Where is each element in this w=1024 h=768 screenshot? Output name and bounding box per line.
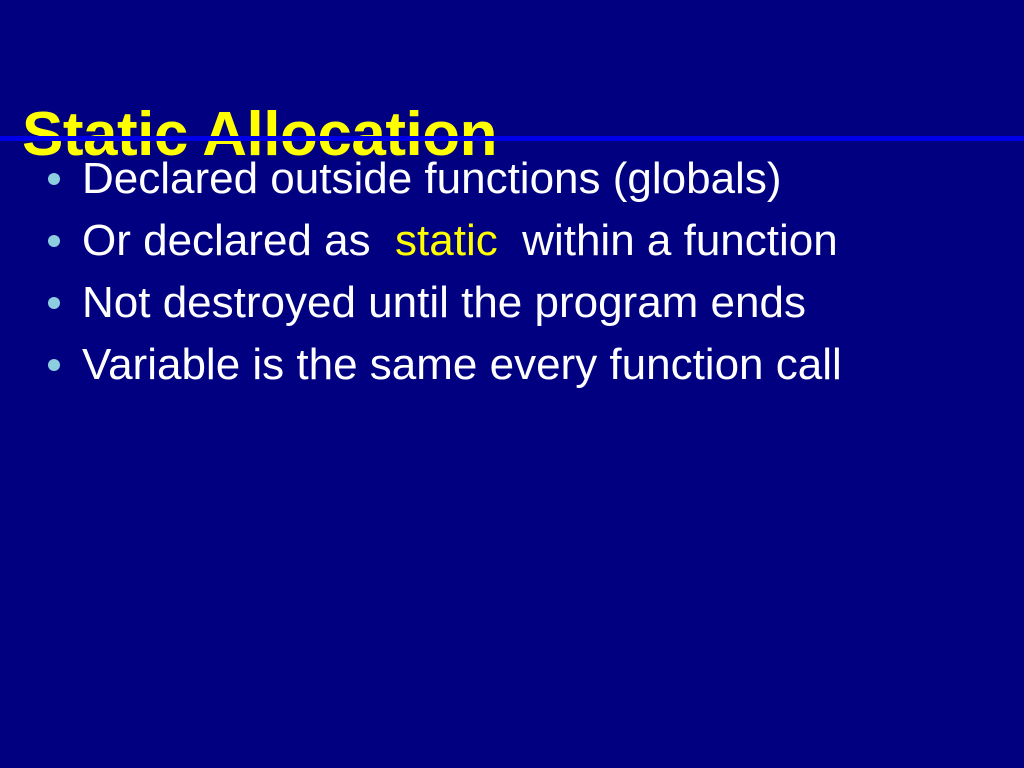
list-item-text: Declared outside functions (globals): [82, 154, 782, 204]
title-divider-rule: [0, 136, 1024, 141]
list-item-text-before: Or declared as: [82, 216, 395, 265]
list-item-text: Not destroyed until the program ends: [82, 278, 806, 328]
bullet-list: Declared outside functions (globals) Or …: [0, 148, 1024, 396]
keyword-static: static: [395, 216, 498, 265]
disc-bullet-icon: [48, 359, 60, 371]
list-item-text: Or declared as static within a function: [82, 216, 838, 266]
list-item: Declared outside functions (globals): [0, 148, 1024, 210]
disc-bullet-icon: [48, 297, 60, 309]
disc-bullet-icon: [48, 173, 60, 185]
disc-bullet-icon: [48, 235, 60, 247]
list-item: Variable is the same every function call: [0, 334, 1024, 396]
list-item-text-after: within a function: [498, 216, 838, 265]
list-item-text: Variable is the same every function call: [82, 340, 842, 390]
list-item: Not destroyed until the program ends: [0, 272, 1024, 334]
presentation-slide: Static Allocation Declared outside funct…: [0, 0, 1024, 768]
list-item: Or declared as static within a function: [0, 210, 1024, 272]
